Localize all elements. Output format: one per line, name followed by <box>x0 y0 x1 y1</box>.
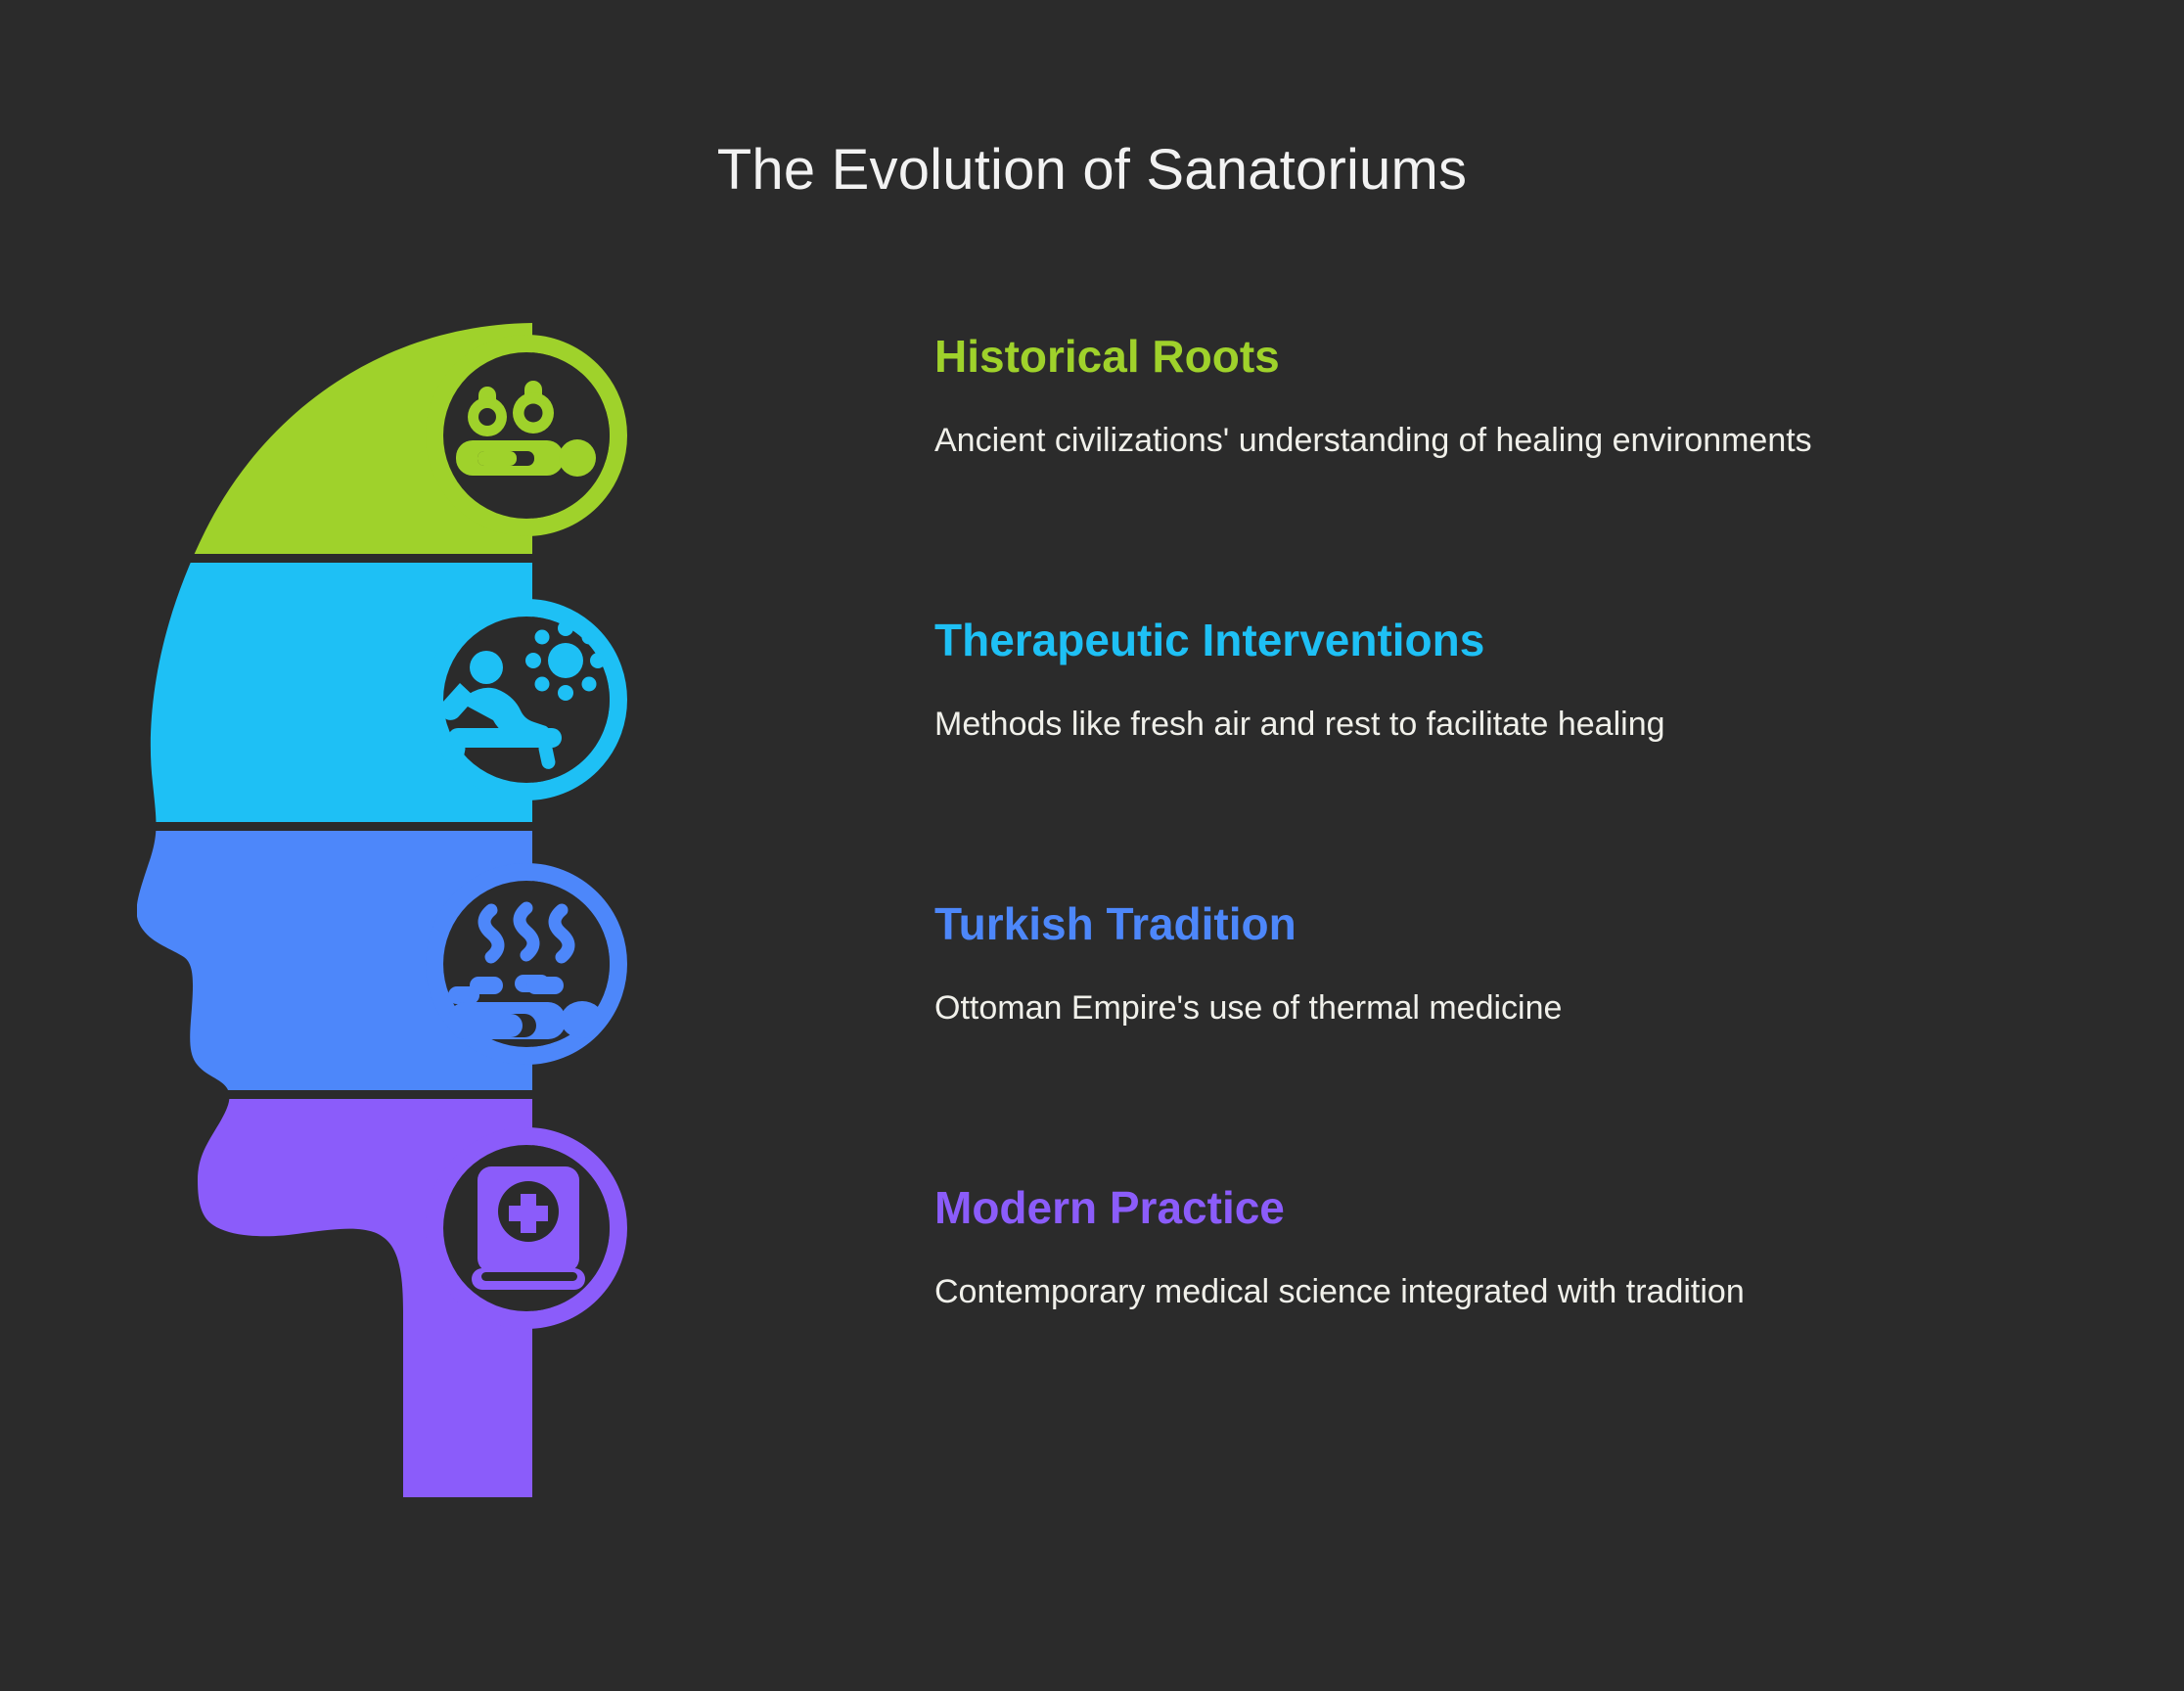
section-modern-practice: Modern Practice Contemporary medical sci… <box>934 1184 2089 1316</box>
section-description: Ottoman Empire's use of thermal medicine <box>934 984 2089 1031</box>
section-historical-roots: Historical Roots Ancient civilizations' … <box>934 333 2089 465</box>
section-title: Turkish Tradition <box>934 900 2089 947</box>
section-turkish-tradition: Turkish Tradition Ottoman Empire's use o… <box>934 900 2089 1032</box>
section-title: Historical Roots <box>934 333 2089 380</box>
icon-circle-turkish-tradition[interactable] <box>434 872 618 1056</box>
head-silhouette-graphic <box>137 323 900 1497</box>
sauna-bench-icon <box>448 975 604 1039</box>
page-title: The Evolution of Sanatoriums <box>0 137 2184 203</box>
section-therapeutic-interventions: Therapeutic Interventions Methods like f… <box>934 617 2089 749</box>
icon-circle-therapeutic-interventions[interactable] <box>434 608 618 792</box>
medical-book-icon <box>472 1166 585 1290</box>
section-description: Ancient civilizations' understanding of … <box>934 417 1913 464</box>
section-title: Modern Practice <box>934 1184 2089 1231</box>
icon-circle-historical-roots[interactable] <box>434 343 618 527</box>
section-description: Contemporary medical science integrated … <box>934 1268 2089 1315</box>
section-title: Therapeutic Interventions <box>934 617 2089 663</box>
icon-circle-modern-practice[interactable] <box>434 1136 618 1320</box>
section-description: Methods like fresh air and rest to facil… <box>934 701 2089 748</box>
